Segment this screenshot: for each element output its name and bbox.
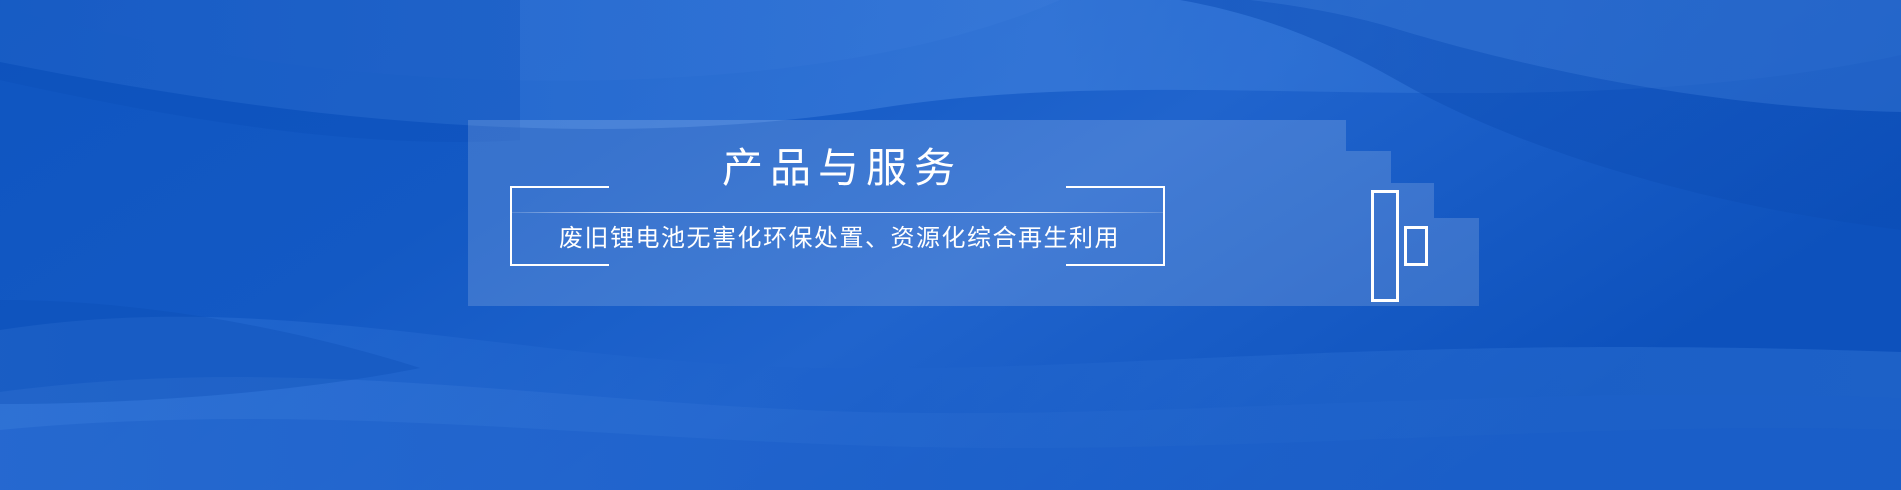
page-banner: 产品与服务 废旧锂电池无害化环保处置、资源化综合再生利用 bbox=[0, 0, 1901, 490]
white-outlined-short-bar bbox=[1404, 226, 1428, 266]
banner-subtitle: 废旧锂电池无害化环保处置、资源化综合再生利用 bbox=[512, 219, 1165, 259]
banner-title: 产品与服务 bbox=[512, 140, 1165, 196]
title-divider bbox=[512, 212, 1165, 213]
white-outlined-tall-bar bbox=[1371, 190, 1399, 302]
banner-text-block: 产品与服务 废旧锂电池无害化环保处置、资源化综合再生利用 bbox=[512, 140, 1165, 259]
stepped-block-3 bbox=[1434, 218, 1479, 306]
